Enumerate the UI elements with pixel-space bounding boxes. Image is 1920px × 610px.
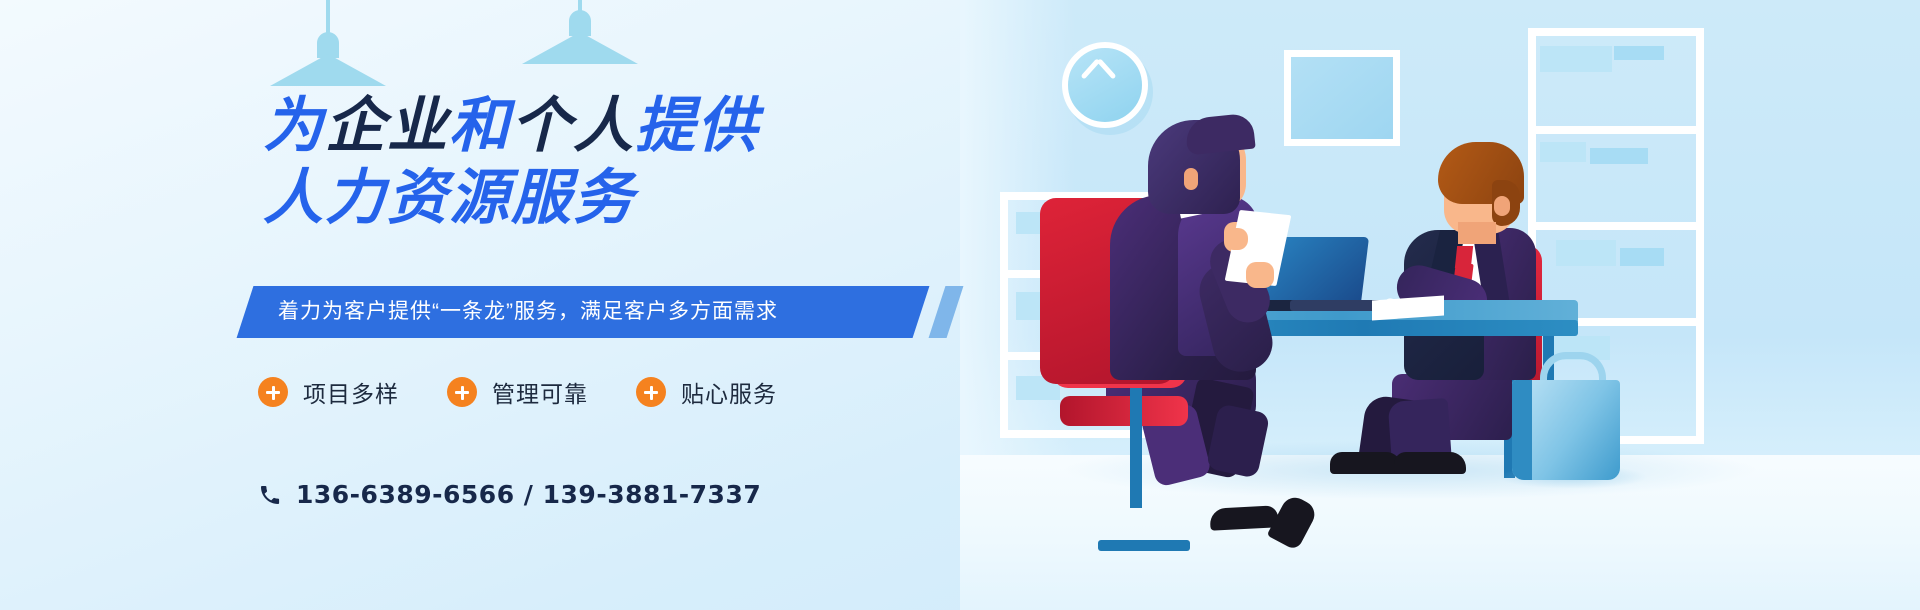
feature-list: 项目多样 管理可靠 贴心服务 xyxy=(258,375,777,409)
laptop-keyboard xyxy=(1290,300,1382,311)
hr-service-banner: 为企业和个人提供 人力资源服务 着力为客户提供“一条龙”服务，满足客户多方面需求… xyxy=(0,0,1920,610)
copy-block: 为企业和个人提供 人力资源服务 着力为客户提供“一条龙”服务，满足客户多方面需求… xyxy=(0,0,960,610)
office-chair-left-base xyxy=(1098,540,1190,551)
briefcase-side-panel xyxy=(1512,380,1532,480)
feature-label-2: 管理可靠 xyxy=(492,375,588,409)
office-chair-left-post xyxy=(1130,388,1142,508)
plus-icon xyxy=(258,377,288,407)
hand-lower xyxy=(1246,262,1274,288)
hand-fingers xyxy=(1224,228,1248,250)
subtitle-text: 着力为客户提供“一条龙”服务，满足客户多方面需求 xyxy=(278,286,778,338)
feature-item-1[interactable]: 项目多样 xyxy=(258,375,399,409)
feature-item-2[interactable]: 管理可靠 xyxy=(447,375,588,409)
feature-label-3: 贴心服务 xyxy=(681,375,777,409)
plus-icon xyxy=(447,377,477,407)
contact-row[interactable]: 136-6389-6566 / 139-3881-7337 xyxy=(258,480,761,509)
headline-seg-5: 提供 xyxy=(635,92,759,159)
headline-seg-2: 企业 xyxy=(325,92,449,159)
ear xyxy=(1184,168,1198,190)
headline-line-2: 人力资源服务 xyxy=(0,167,900,229)
contact-phone-numbers: 136-6389-6566 / 139-3881-7337 xyxy=(296,480,761,509)
feature-item-3[interactable]: 贴心服务 xyxy=(636,375,777,409)
wall-clock-icon xyxy=(1062,42,1148,128)
phone-icon xyxy=(258,483,282,507)
wall-picture-frame xyxy=(1284,50,1400,146)
headline-line-1: 为企业和个人提供 xyxy=(0,95,900,157)
ear xyxy=(1494,196,1510,216)
headline-seg-3: 和 xyxy=(449,92,511,159)
feature-label-1: 项目多样 xyxy=(303,375,399,409)
headline-seg-1: 为 xyxy=(263,92,325,159)
subtitle-bar-tail xyxy=(929,286,964,338)
headline-seg-4: 个人 xyxy=(511,92,635,159)
office-chair-left-seat xyxy=(1060,396,1188,426)
plus-icon xyxy=(636,377,666,407)
headline: 为企业和个人提供 人力资源服务 xyxy=(0,95,900,229)
